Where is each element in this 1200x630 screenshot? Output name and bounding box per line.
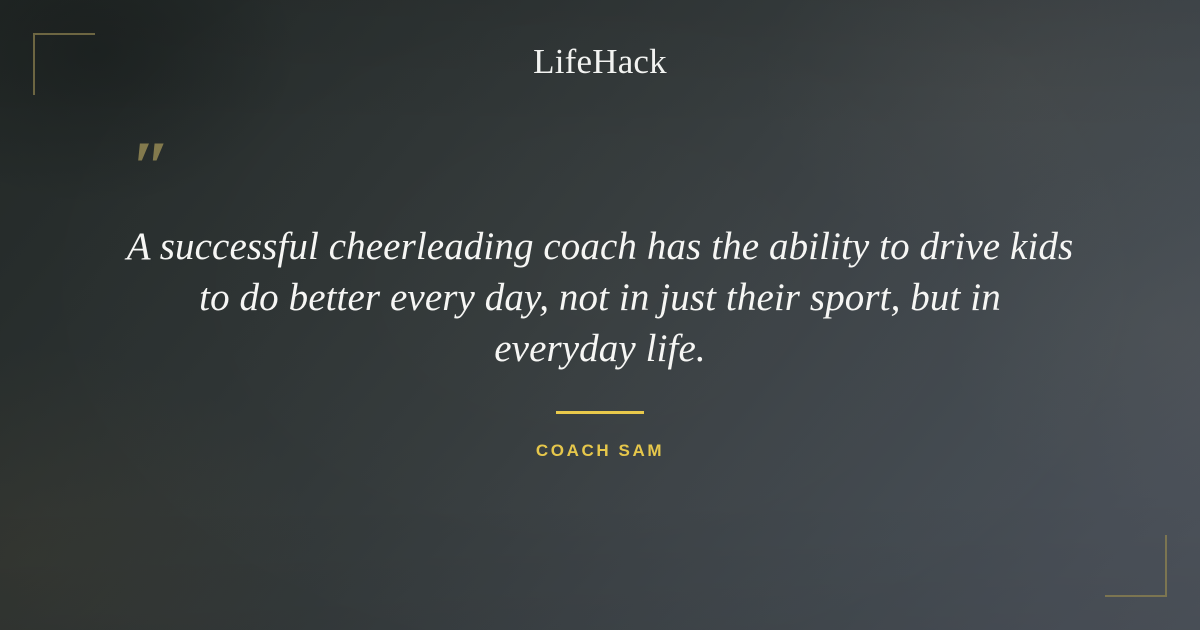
divider-rule: [556, 411, 644, 414]
quote-mark-icon: ″: [131, 131, 171, 203]
quote-card: LifeHack ″ A successful cheerleading coa…: [0, 0, 1200, 630]
quote-text: A successful cheerleading coach has the …: [96, 221, 1104, 374]
quote-line: to do better every day, not in just thei…: [96, 272, 1104, 323]
brand-logo: LifeHack: [0, 40, 1200, 84]
quote-line: everyday life.: [96, 323, 1104, 374]
quote-attribution: COACH SAM: [0, 440, 1200, 462]
corner-bracket-bottom-right-icon: [1105, 535, 1167, 597]
quote-line: A successful cheerleading coach has the …: [96, 221, 1104, 272]
